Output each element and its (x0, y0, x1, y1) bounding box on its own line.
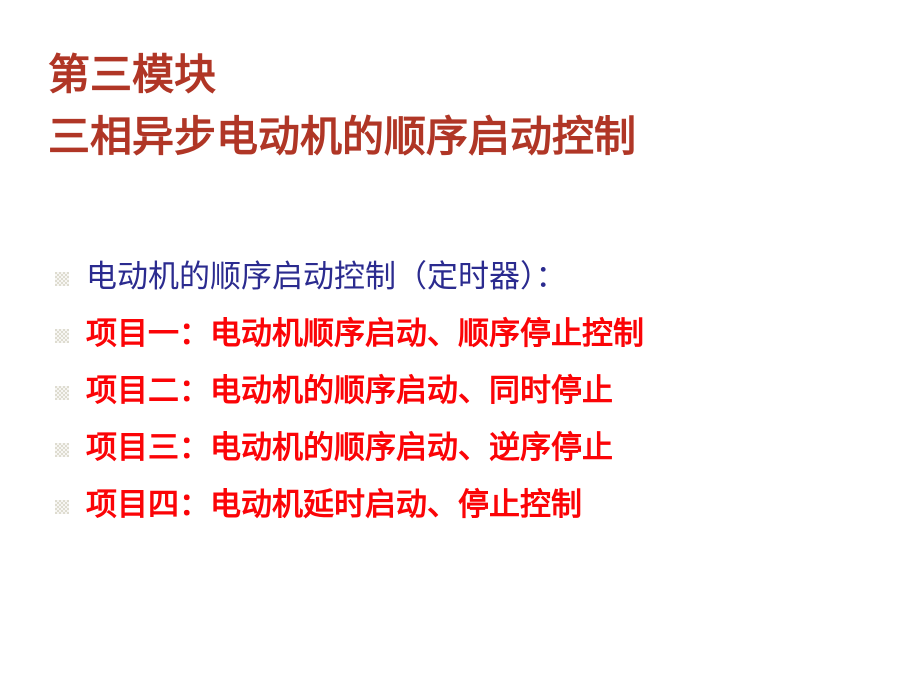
slide-title: 第三模块 三相异步电动机的顺序启动控制 (48, 44, 878, 168)
list-item: 电动机的顺序启动控制（定时器）： (55, 248, 915, 305)
list-item: 项目二：电动机的顺序启动、同时停止 (55, 362, 915, 419)
presentation-slide: 第三模块 三相异步电动机的顺序启动控制 电动机的顺序启动控制（定时器）： 项目一… (0, 0, 920, 690)
square-bullet-icon (55, 272, 69, 286)
bullet-item-label-3: 项目二：电动机的顺序启动、同时停止 (86, 373, 613, 409)
list-item: 项目三：电动机的顺序启动、逆序停止 (55, 419, 915, 476)
square-bullet-icon (55, 500, 69, 514)
square-bullet-icon (55, 443, 69, 457)
bullet-item-label-2: 项目一：电动机顺序启动、顺序停止控制 (86, 316, 644, 352)
title-line-1: 第三模块 (48, 44, 878, 106)
bullet-item-label-5: 项目四：电动机延时启动、停止控制 (86, 487, 582, 523)
square-bullet-icon (55, 329, 69, 343)
bullet-item-label-4: 项目三：电动机的顺序启动、逆序停止 (86, 430, 613, 466)
bullet-list: 电动机的顺序启动控制（定时器）： 项目一：电动机顺序启动、顺序停止控制 项目二：… (55, 248, 915, 533)
square-bullet-icon (55, 386, 69, 400)
title-line-2: 三相异步电动机的顺序启动控制 (48, 106, 878, 168)
list-item: 项目四：电动机延时启动、停止控制 (55, 476, 915, 533)
list-item: 项目一：电动机顺序启动、顺序停止控制 (55, 305, 915, 362)
bullet-item-label-1: 电动机的顺序启动控制（定时器）： (86, 259, 567, 295)
